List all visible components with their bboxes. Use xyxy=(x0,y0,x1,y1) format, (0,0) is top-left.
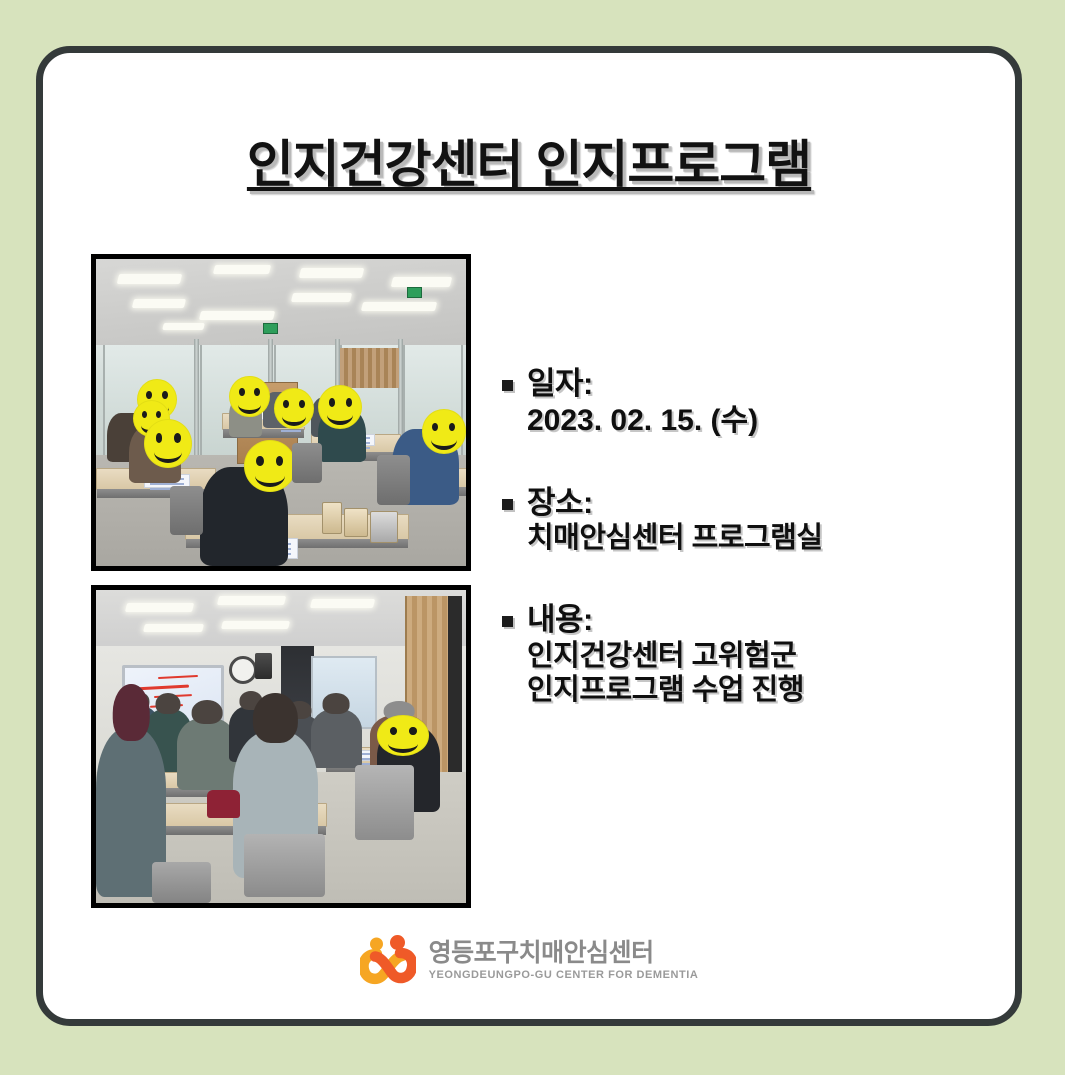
exit-sign-icon xyxy=(263,323,278,334)
ceiling-light xyxy=(298,268,363,278)
smiley-face-mask xyxy=(229,376,270,417)
supply-box xyxy=(344,508,368,538)
participant-back xyxy=(311,709,363,768)
info-value-content-line-2: 인지프로그램 수업 진행 xyxy=(527,673,972,708)
square-bullet-icon xyxy=(502,499,513,510)
info-value-location: 치매안심센터 프로그램실 xyxy=(527,521,972,556)
ceiling-light xyxy=(162,323,205,330)
info-label-content: 내용: xyxy=(527,602,593,639)
photo-classroom-rear xyxy=(91,585,471,908)
info-label-location: 장소: xyxy=(527,485,593,522)
info-value-location-line: 치매안심센터 프로그램실 xyxy=(527,521,972,556)
chair xyxy=(244,834,325,897)
pencil-cup xyxy=(322,502,343,535)
info-label-date: 일자: xyxy=(527,366,593,403)
ceiling-light xyxy=(143,624,204,632)
wood-wall-panel xyxy=(340,348,399,388)
ceiling-light xyxy=(132,299,186,308)
info-value-date: 2023. 02. 15. (수) xyxy=(527,403,972,439)
chair xyxy=(152,862,211,903)
wall-speaker xyxy=(255,653,272,679)
handbag xyxy=(207,790,240,818)
chair xyxy=(377,455,410,504)
wall-clock xyxy=(229,656,257,684)
smiley-face-mask xyxy=(244,440,296,492)
square-bullet-icon xyxy=(502,616,513,627)
smiley-face-mask xyxy=(422,409,466,454)
chair xyxy=(355,765,414,840)
info-list: 일자: 2023. 02. 15. (수) 장소: 치매안심센터 프로그램실 내… xyxy=(502,366,972,708)
info-value-date-line: 2023. 02. 15. (수) xyxy=(527,403,972,439)
info-value-content: 인지건강센터 고위험군 인지프로그램 수업 진행 xyxy=(527,639,972,709)
page-title: 인지건강센터 인지프로그램 xyxy=(247,123,811,197)
ceiling-light xyxy=(213,265,271,274)
ceiling-light xyxy=(291,293,352,302)
ceiling-light xyxy=(217,596,286,605)
chair xyxy=(170,486,203,535)
footer-logo: 영등포구치매안심센터 YEONGDEUNGPO-GU CENTER FOR DE… xyxy=(43,935,1015,987)
ceiling-light xyxy=(198,311,274,320)
smiley-face-mask xyxy=(144,419,192,468)
chair xyxy=(292,443,322,483)
square-bullet-icon xyxy=(502,380,513,391)
page-title-wrap: 인지건강센터 인지프로그램 xyxy=(43,123,1015,197)
ceiling-light xyxy=(117,274,182,284)
ceiling-light xyxy=(309,599,374,608)
exit-sign-icon xyxy=(407,287,422,298)
participant-back xyxy=(177,718,236,790)
smiley-face-mask xyxy=(377,715,429,756)
ceiling-light xyxy=(124,603,193,612)
logo-text-block: 영등포구치매안심센터 YEONGDEUNGPO-GU CENTER FOR DE… xyxy=(429,941,699,981)
ceiling-light xyxy=(361,302,437,311)
two-people-infinity-logo-icon xyxy=(360,935,416,987)
ceiling-light xyxy=(221,621,290,629)
poster-card: 인지건강센터 인지프로그램 xyxy=(36,46,1022,1026)
organization-name-en: YEONGDEUNGPO-GU CENTER FOR DEMENTIA xyxy=(429,970,699,981)
supply-box xyxy=(370,511,398,544)
partition-frame xyxy=(194,339,199,474)
info-item-location: 장소: 치매안심센터 프로그램실 xyxy=(502,485,972,556)
photo-classroom-front xyxy=(91,254,471,571)
info-item-content: 내용: 인지건강센터 고위험군 인지프로그램 수업 진행 xyxy=(502,602,972,708)
organization-name-kr: 영등포구치매안심센터 xyxy=(429,941,699,966)
info-value-content-line-1: 인지건강센터 고위험군 xyxy=(527,639,972,674)
info-item-date: 일자: 2023. 02. 15. (수) xyxy=(502,366,972,439)
